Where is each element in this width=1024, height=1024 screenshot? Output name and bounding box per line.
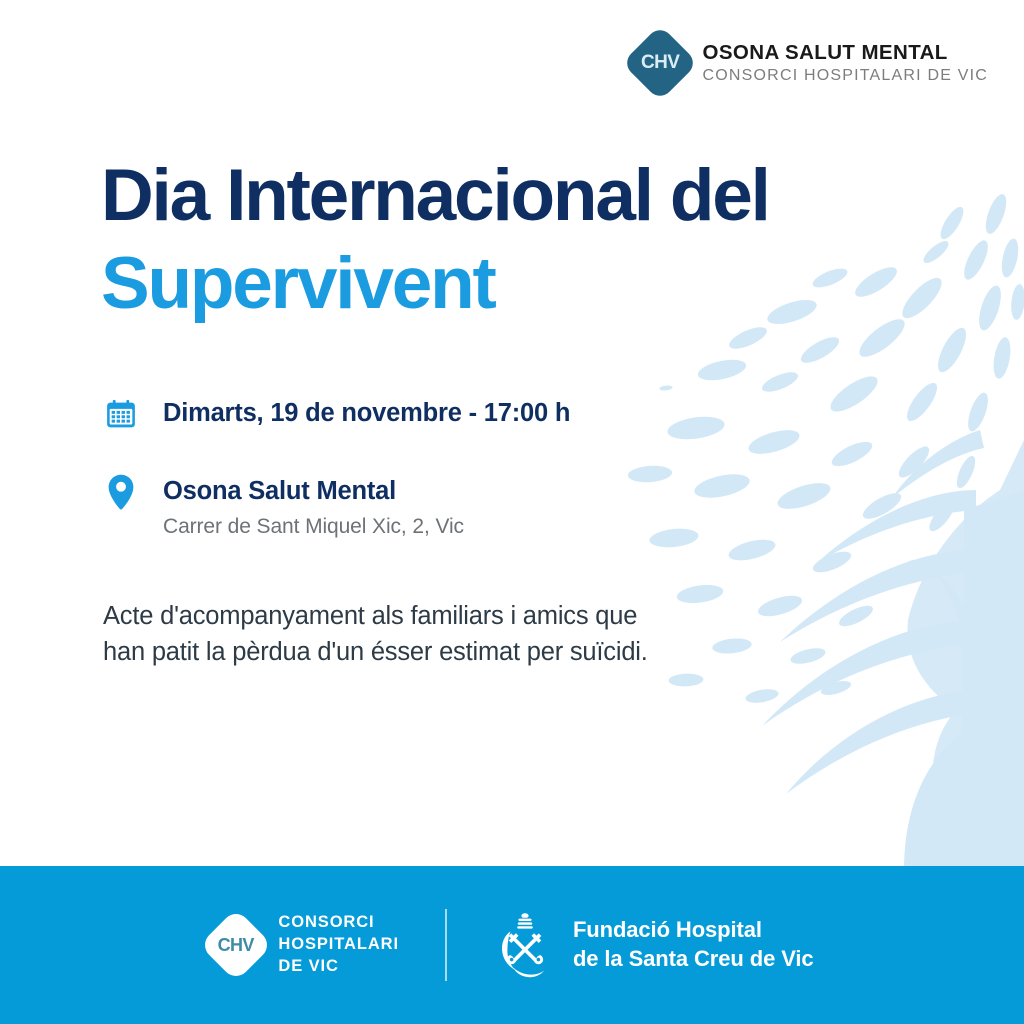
event-description: Acte d'acompanyament als familiars i ami… (103, 598, 663, 671)
event-location-name: Osona Salut Mental (163, 472, 464, 507)
footer-chv-text: CONSORCI HOSPITALARI DE VIC (278, 912, 399, 977)
papal-crest-crossed-keys-icon (493, 909, 557, 981)
footer-logos: CHV CONSORCI HOSPITALARI DE VIC (210, 909, 813, 981)
event-location-text-wrap: Osona Salut Mental Carrer de Sant Miquel… (163, 472, 464, 539)
brand-subtitle: CONSORCI HOSPITALARI DE VIC (703, 67, 988, 85)
footer-fundacio-text: Fundació Hospital de la Santa Creu de Vi… (573, 916, 814, 973)
map-pin-icon (101, 472, 141, 512)
footer-fundacio-logo-group: Fundació Hospital de la Santa Creu de Vi… (493, 909, 814, 981)
chv-logo-label: CHV (640, 52, 678, 74)
page-title-line1: Dia Internacional del (101, 152, 769, 240)
chv-diamond-logo: CHV (621, 25, 697, 101)
event-date-text-wrap: Dimarts, 19 de novembre - 17:00 h (163, 394, 570, 429)
page-title: Dia Internacional del Supervivent (101, 152, 769, 329)
event-date-row: Dimarts, 19 de novembre - 17:00 h (101, 394, 570, 434)
chv-diamond-logo: CHV (200, 908, 274, 982)
footer-divider (445, 909, 447, 981)
footer-fundacio-line2: de la Santa Creu de Vic (573, 945, 814, 974)
event-location-row: Osona Salut Mental Carrer de Sant Miquel… (101, 472, 570, 539)
footer-chv-line2: HOSPITALARI (278, 934, 399, 956)
event-date-text: Dimarts, 19 de novembre - 17:00 h (163, 394, 570, 429)
footer-chv-line3: DE VIC (278, 956, 399, 978)
page-title-line2: Supervivent (101, 240, 769, 328)
calendar-icon (101, 394, 141, 434)
footer-chv-logo-label: CHV (218, 934, 254, 955)
event-details: Dimarts, 19 de novembre - 17:00 h Osona … (101, 394, 570, 539)
footer-fundacio-line1: Fundació Hospital (573, 916, 814, 945)
footer-band: CHV CONSORCI HOSPITALARI DE VIC (0, 866, 1024, 1024)
brand-header-text: OSONA SALUT MENTAL CONSORCI HOSPITALARI … (703, 42, 988, 85)
footer-chv-line1: CONSORCI (278, 912, 399, 934)
poster-canvas: CHV OSONA SALUT MENTAL CONSORCI HOSPITAL… (0, 0, 1024, 1024)
event-location-address: Carrer de Sant Miquel Xic, 2, Vic (163, 515, 464, 539)
footer-chv-logo-group: CHV CONSORCI HOSPITALARI DE VIC (210, 912, 399, 977)
brand-title: OSONA SALUT MENTAL (703, 42, 988, 65)
brand-header: CHV OSONA SALUT MENTAL CONSORCI HOSPITAL… (633, 36, 988, 90)
